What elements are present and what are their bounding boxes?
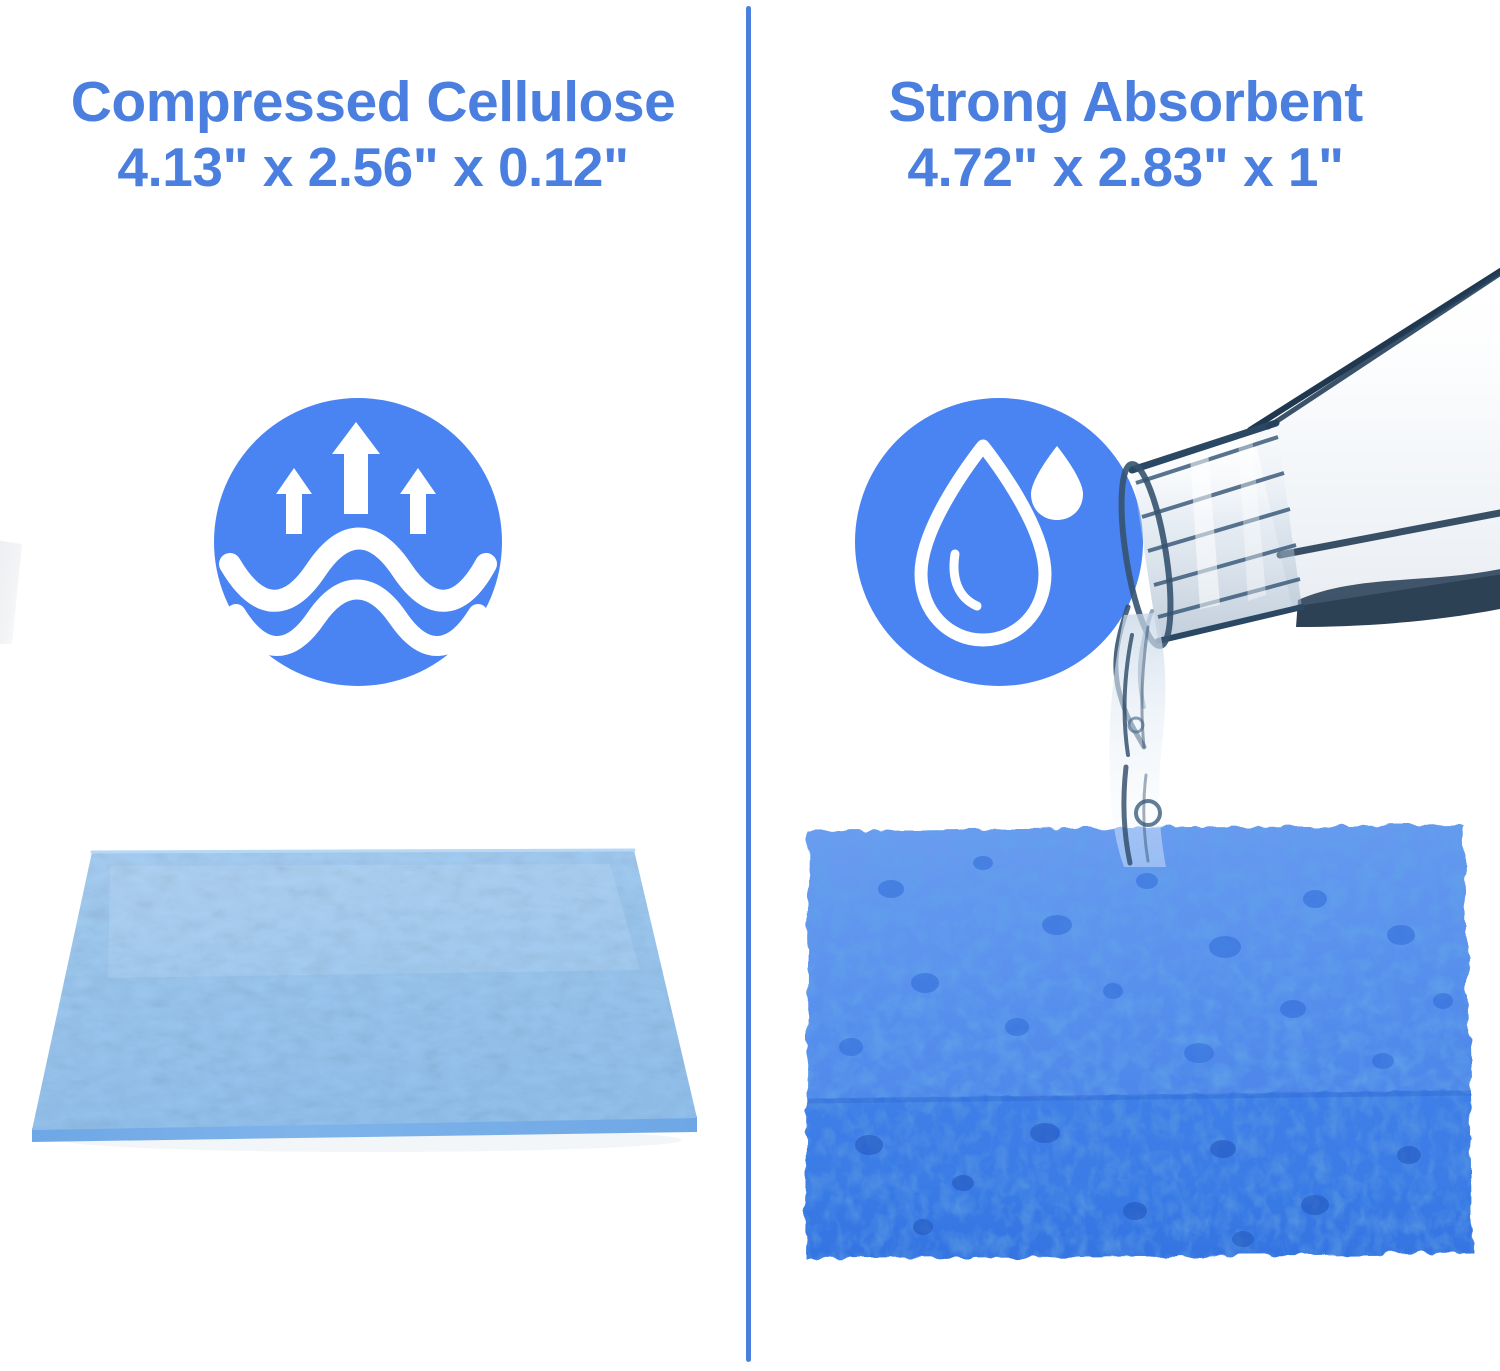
- product-comparison-infographic: Compressed Cellulose 4.13" x 2.56" x 0.1…: [0, 0, 1500, 1371]
- right-heading: Strong Absorbent 4.72" x 2.83" x 1": [751, 72, 1500, 197]
- right-heading-line2: 4.72" x 2.83" x 1": [751, 138, 1500, 196]
- absorbing-waves-icon: [214, 398, 502, 686]
- left-heading-line1: Compressed Cellulose: [0, 72, 746, 132]
- panel-compressed-cellulose: Compressed Cellulose 4.13" x 2.56" x 0.1…: [0, 0, 746, 1371]
- expanded-sponge-block: [795, 815, 1485, 1270]
- right-heading-line1: Strong Absorbent: [751, 72, 1500, 132]
- left-heading-line2: 4.13" x 2.56" x 0.12": [0, 138, 746, 196]
- water-droplet-icon: [855, 398, 1143, 686]
- background-edge-sliver: [0, 540, 22, 644]
- left-heading: Compressed Cellulose 4.13" x 2.56" x 0.1…: [0, 72, 746, 197]
- compressed-cellulose-sheet: [0, 820, 746, 1180]
